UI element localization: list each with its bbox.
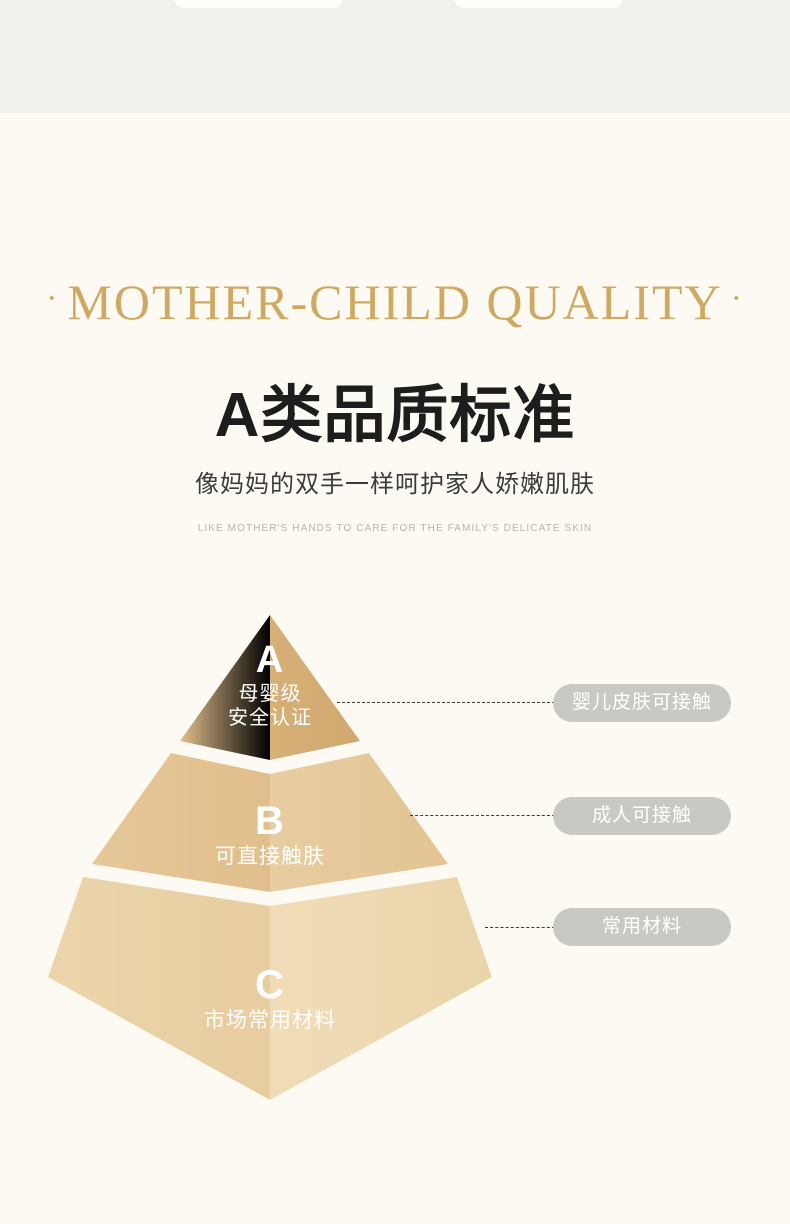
tier-c-line-1: 市场常用材料: [180, 1008, 360, 1034]
connector-line-tier-c: [485, 927, 555, 928]
badge-tier-c: 常用材料: [553, 908, 731, 946]
badge-tier-a: 婴儿皮肤可接触: [553, 684, 731, 722]
eyebrow-dot-right: ·: [723, 280, 752, 317]
previous-section-strip: [0, 0, 790, 113]
tier-c-letter: C: [180, 962, 360, 1008]
eyebrow-dot-left: ·: [38, 280, 67, 317]
pyramid-tier-c-label: C 市场常用材料: [180, 962, 360, 1034]
pyramid-tier-a-label: A 母婴级 安全认证: [180, 638, 360, 730]
tier-b-line-1: 可直接触肤: [180, 844, 360, 870]
page-title: A类品质标准: [0, 378, 790, 454]
tier-a-line-2: 安全认证: [180, 706, 360, 730]
tier-a-letter: A: [180, 638, 360, 682]
eyebrow-text: MOTHER-CHILD QUALITY: [67, 274, 722, 330]
subtitle-en: LIKE MOTHER'S HANDS TO CARE FOR THE FAMI…: [0, 521, 790, 537]
product-detail-page: ·MOTHER-CHILD QUALITY· A类品质标准 像妈妈的双手一样呵护…: [0, 0, 790, 1224]
previous-section-card-left: [175, 0, 342, 8]
tier-a-line-1: 母婴级: [180, 682, 360, 706]
eyebrow-title: ·MOTHER-CHILD QUALITY·: [0, 268, 790, 333]
previous-section-card-right: [455, 0, 622, 8]
badge-tier-b: 成人可接触: [553, 797, 731, 835]
subtitle-cn: 像妈妈的双手一样呵护家人娇嫩肌肤: [0, 468, 790, 502]
tier-b-letter: B: [180, 798, 360, 844]
pyramid-tier-b-label: B 可直接触肤: [180, 798, 360, 870]
connector-line-tier-b: [410, 815, 555, 816]
connector-line-tier-a: [337, 702, 555, 703]
